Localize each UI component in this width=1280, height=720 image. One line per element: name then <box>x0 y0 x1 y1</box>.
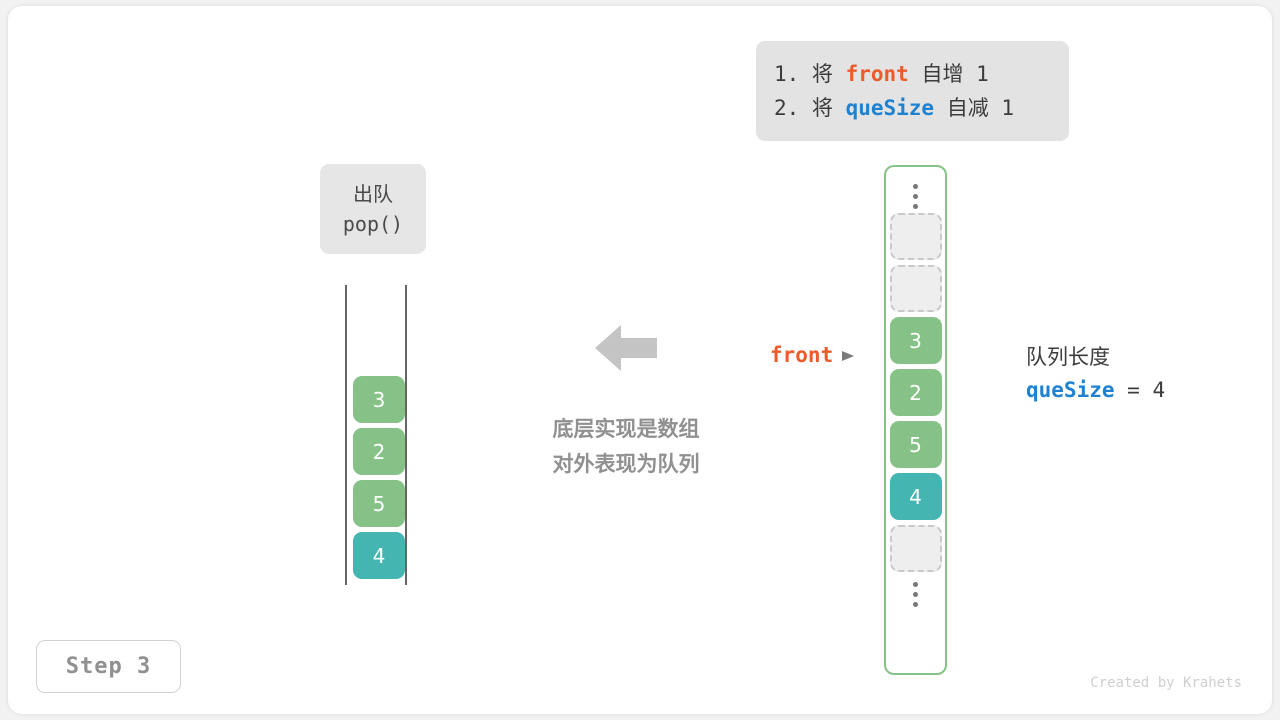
array-cell: 2 <box>890 369 942 416</box>
queue-size-value: 4 <box>1152 378 1165 402</box>
ellipsis-icon <box>913 577 918 611</box>
front-pointer-label: front <box>770 343 833 367</box>
triangle-right-icon <box>841 348 855 362</box>
credit-text: Created by Krahets <box>1090 675 1242 691</box>
caption-line-2: 对外表现为队列 <box>528 447 724 482</box>
array-cell: 5 <box>890 421 942 468</box>
array-cell-list: 3254 <box>890 179 942 611</box>
operation-code: pop() <box>343 209 403 239</box>
step-line-2: 2. 将 queSize 自减 1 <box>774 91 1069 125</box>
queue-cell: 5 <box>353 480 405 527</box>
step-1-suffix: 自增 1 <box>909 62 989 86</box>
queue-size-expression: queSize = 4 <box>1026 374 1165 407</box>
queue-cell: 2 <box>353 428 405 475</box>
step-1-prefix: 1. 将 <box>774 62 846 86</box>
array-cell-empty <box>890 525 942 572</box>
queue-cell: 4 <box>353 532 405 579</box>
step-1-keyword: front <box>846 62 909 86</box>
step-2-suffix: 自减 1 <box>934 96 1014 120</box>
queue-rail-right <box>405 285 407 585</box>
queue-column: 3254 <box>345 285 407 585</box>
operation-steps-callout: 1. 将 front 自增 1 2. 将 queSize 自减 1 <box>756 41 1069 141</box>
operation-title: 出队 <box>353 179 393 209</box>
ellipsis-icon <box>913 179 918 213</box>
array-cell: 4 <box>890 473 942 520</box>
queue-cell-list: 3254 <box>353 376 405 579</box>
array-cell: 3 <box>890 317 942 364</box>
array-container: 3254 <box>884 165 947 675</box>
caption-line-1: 底层实现是数组 <box>528 412 724 447</box>
queue-size-equals: = <box>1115 378 1153 402</box>
diagram-canvas: 1. 将 front 自增 1 2. 将 queSize 自减 1 出队 pop… <box>0 0 1280 720</box>
step-2-keyword: queSize <box>846 96 935 120</box>
queue-size-var: queSize <box>1026 378 1115 402</box>
queue-rail-left <box>345 285 347 585</box>
queue-size-title: 队列长度 <box>1026 341 1165 374</box>
transform-arrow-left-icon <box>595 324 657 372</box>
array-cell-empty <box>890 265 942 312</box>
step-2-prefix: 2. 将 <box>774 96 846 120</box>
operation-label-box: 出队 pop() <box>320 164 426 254</box>
diagram-caption: 底层实现是数组 对外表现为队列 <box>528 412 724 482</box>
queue-size-info: 队列长度 queSize = 4 <box>1026 341 1165 407</box>
queue-cell: 3 <box>353 376 405 423</box>
step-badge: Step 3 <box>36 640 181 693</box>
step-line-1: 1. 将 front 自增 1 <box>774 57 1069 91</box>
front-pointer: front <box>770 343 855 367</box>
array-cell-empty <box>890 213 942 260</box>
